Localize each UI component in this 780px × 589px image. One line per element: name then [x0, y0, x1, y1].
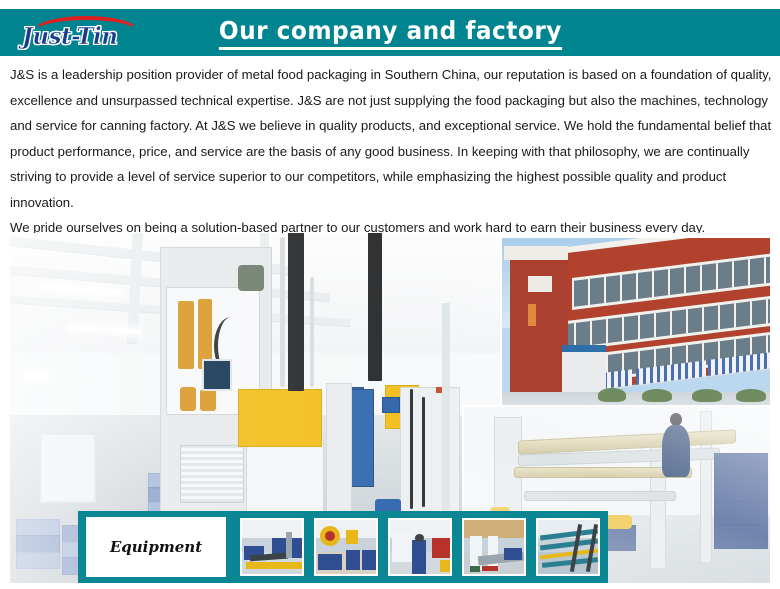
brand-logo[interactable]: Just-Tin	[14, 15, 164, 51]
conveyor-rail	[524, 491, 676, 501]
thumb-worker	[346, 550, 360, 570]
machine-column	[288, 233, 304, 391]
machine-blue-box	[382, 397, 400, 413]
thumb-crates	[318, 554, 342, 570]
thumb-flywheel-hub	[325, 531, 335, 541]
thumb-worker-head	[415, 534, 424, 542]
thumb-machine-part	[440, 560, 450, 572]
thumbnail-yellow-machinery-row[interactable]	[462, 518, 526, 576]
machine-orange-cylinder	[178, 301, 194, 369]
company-profile-page: Just-Tin Our company and factory J&S is …	[0, 0, 780, 589]
thumb-worker	[412, 540, 426, 574]
thumb-machine	[392, 534, 414, 562]
shrub	[598, 388, 626, 402]
thumb-conveyor	[246, 562, 302, 569]
equipment-label-box: Equipment	[86, 517, 226, 577]
hall-doorway	[40, 433, 96, 503]
machine-panel	[326, 383, 352, 525]
thumb-crates	[504, 548, 522, 560]
canning-machine-assembly	[160, 237, 460, 537]
machine-cable	[410, 389, 413, 509]
building-tower-cap	[504, 246, 568, 260]
equipment-thumbnail-strip: Equipment	[78, 511, 608, 583]
shrub	[692, 389, 722, 402]
hall-pillar	[442, 303, 450, 533]
blue-crate	[714, 525, 768, 549]
thumb-red-panel	[432, 538, 450, 558]
machine-orange-cylinder	[200, 389, 216, 411]
machine-cable	[422, 397, 425, 507]
equipment-label: Equipment	[110, 538, 202, 556]
crate-stack	[16, 551, 60, 569]
thumb-floor-mark	[482, 566, 498, 571]
thumbnail-worker-at-machine[interactable]	[388, 518, 452, 576]
machine-pipe	[280, 237, 285, 387]
machine-blue-box	[350, 389, 374, 487]
thumb-post	[286, 532, 292, 558]
thumb-floor-mark	[470, 566, 480, 572]
thumbnail-overhead-piping[interactable]	[536, 518, 600, 576]
thumb-pillar	[488, 536, 498, 570]
machine-column	[368, 233, 382, 381]
thumbnail-list	[240, 518, 600, 576]
machine-panel	[400, 387, 460, 529]
thumbnail-conveyor-line[interactable]	[240, 518, 304, 576]
yellow-machine-part	[606, 515, 632, 529]
thumb-worker	[362, 550, 376, 570]
machine-pipe	[310, 277, 314, 387]
tower-window	[528, 276, 552, 292]
shrub	[642, 389, 672, 402]
blue-crate	[714, 453, 768, 477]
worker-figure	[662, 425, 690, 477]
thumb-machine	[346, 530, 358, 544]
page-header: Just-Tin Our company and factory	[0, 9, 780, 56]
factory-building-inset-photo	[500, 238, 770, 418]
blue-crate	[714, 501, 768, 525]
ceiling-lamp	[22, 373, 48, 379]
building-entrance	[562, 345, 606, 396]
tower-accent	[528, 304, 536, 326]
company-description: J&S is a leadership position provider of…	[10, 62, 772, 241]
blue-crate	[714, 477, 768, 501]
shrub	[736, 389, 766, 402]
description-paragraph-1: J&S is a leadership position provider of…	[10, 62, 772, 215]
machine-control-screen	[202, 359, 232, 391]
machine-orange-cylinder	[180, 387, 196, 411]
thumbnail-press-machines[interactable]	[314, 518, 378, 576]
page-title: Our company and factory	[219, 16, 562, 50]
thumb-ceiling	[242, 520, 302, 538]
machine-yellow-cover	[238, 389, 322, 447]
logo-text: Just-Tin	[22, 23, 118, 50]
machine-motor	[238, 265, 264, 291]
machine-vent-grid	[180, 445, 244, 503]
